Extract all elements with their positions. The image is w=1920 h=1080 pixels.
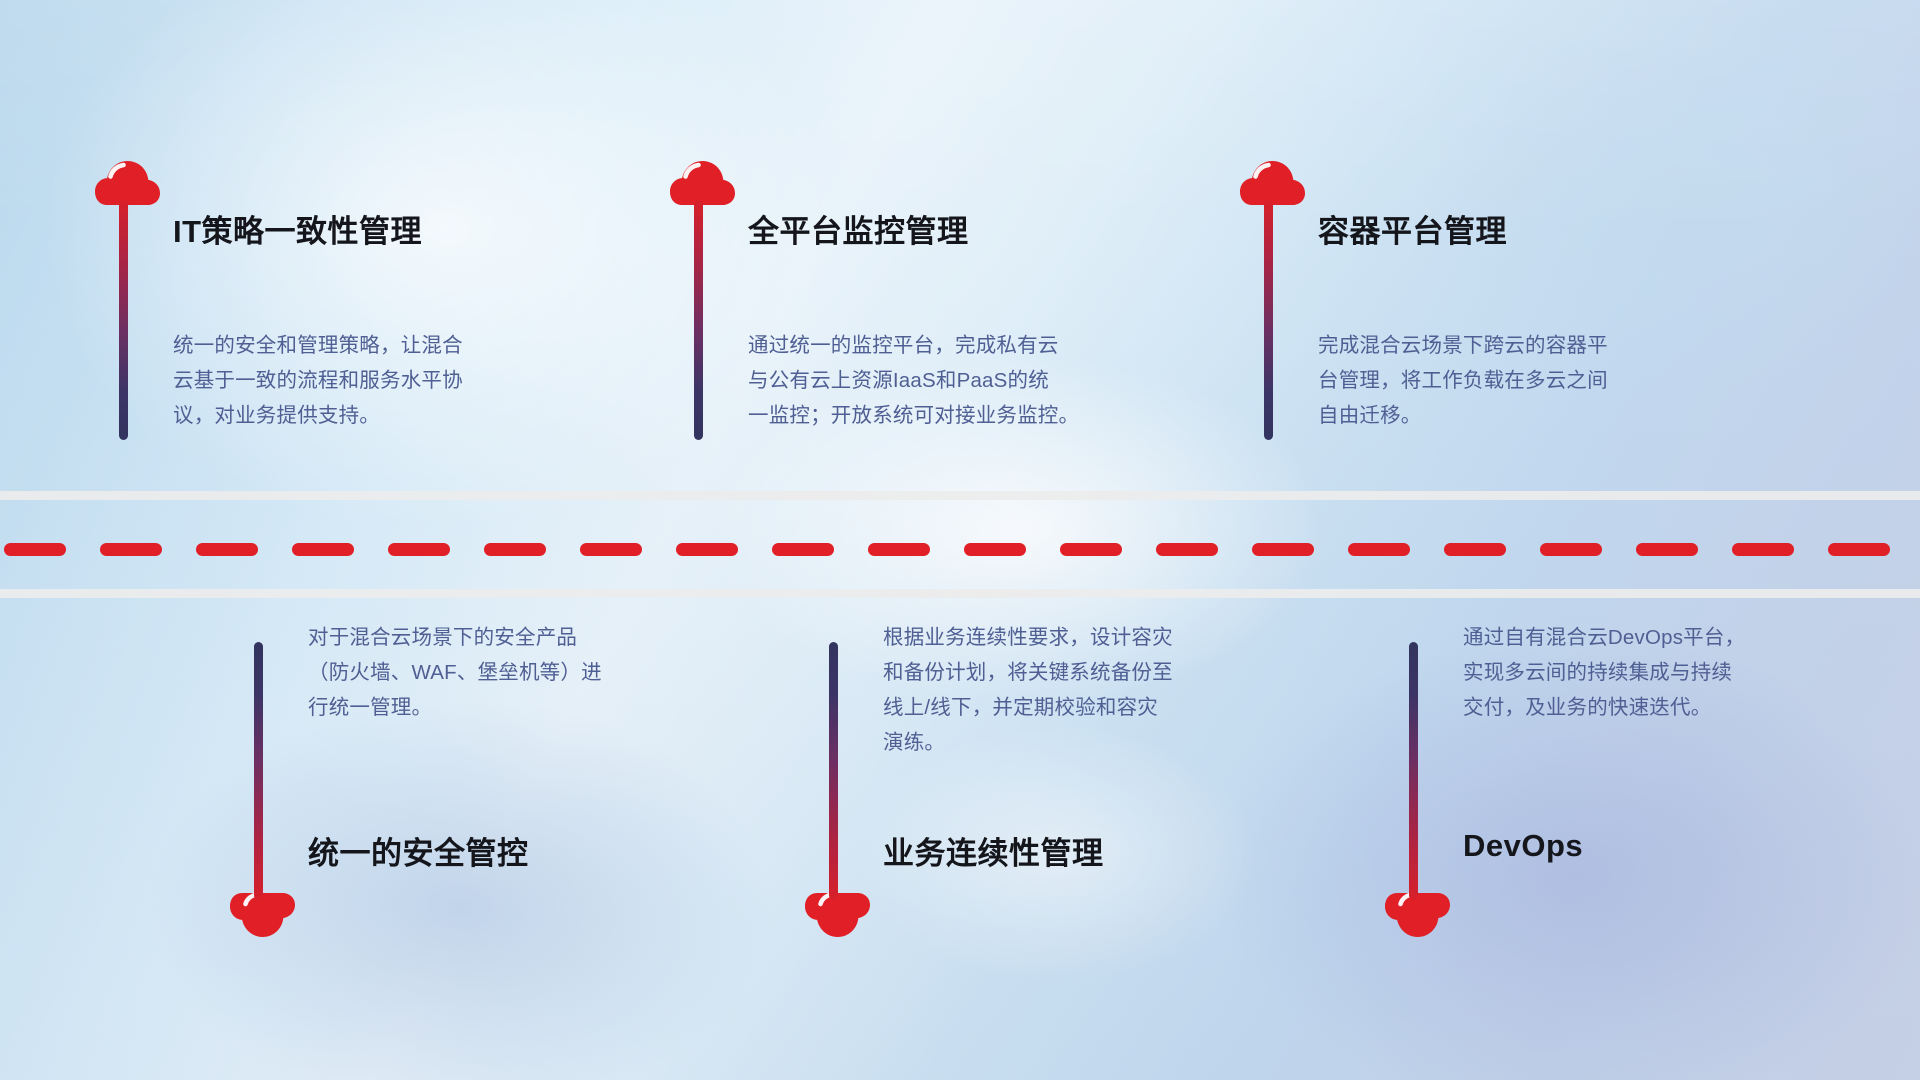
divider-dash	[388, 543, 450, 556]
divider-dash	[292, 543, 354, 556]
connector-stem	[254, 642, 263, 900]
divider-dash	[1636, 543, 1698, 556]
divider-dash	[772, 543, 834, 556]
divider-dash	[868, 543, 930, 556]
cloud-pin-icon	[95, 160, 161, 208]
connector-stem	[119, 200, 128, 440]
feature-title: IT策略一致性管理	[173, 206, 422, 251]
cloud-pin-icon	[1240, 160, 1306, 208]
connector-stem	[1409, 642, 1418, 900]
divider-dash	[1156, 543, 1218, 556]
divider-dash	[964, 543, 1026, 556]
divider-dash	[1540, 543, 1602, 556]
divider-dash	[1060, 543, 1122, 556]
divider-dash	[484, 543, 546, 556]
divider-rail-bottom	[0, 589, 1920, 598]
divider-dash	[196, 543, 258, 556]
cloud-pin-icon	[1385, 890, 1451, 938]
divider-dash	[1252, 543, 1314, 556]
feature-title: 容器平台管理	[1318, 206, 1507, 251]
connector-stem	[829, 642, 838, 900]
feature-description: 完成混合云场景下跨云的容器平 台管理，将工作负载在多云之间 自由迁移。	[1318, 328, 1678, 433]
connector-stem	[1264, 200, 1273, 440]
feature-description: 通过统一的监控平台，完成私有云 与公有云上资源IaaS和PaaS的统 一监控；开…	[748, 328, 1148, 433]
cloud-pin-icon	[805, 890, 871, 938]
feature-description: 根据业务连续性要求，设计容灾 和备份计划，将关键系统备份至 线上/线下，并定期校…	[883, 620, 1243, 760]
divider-dash	[1348, 543, 1410, 556]
feature-description: 对于混合云场景下的安全产品 （防火墙、WAF、堡垒机等）进 行统一管理。	[308, 620, 668, 725]
divider-dash	[1732, 543, 1794, 556]
feature-title: 业务连续性管理	[883, 828, 1104, 873]
connector-stem	[694, 200, 703, 440]
feature-description: 通过自有混合云DevOps平台， 实现多云间的持续集成与持续 交付，及业务的快速…	[1463, 620, 1823, 725]
cloud-pin-icon	[670, 160, 736, 208]
divider-dash	[4, 543, 66, 556]
divider-dash	[1828, 543, 1890, 556]
feature-title: 全平台监控管理	[748, 206, 969, 251]
feature-title: DevOps	[1463, 828, 1583, 864]
feature-description: 统一的安全和管理策略，让混合 云基于一致的流程和服务水平协 议，对业务提供支持。	[173, 328, 533, 433]
infographic-canvas: IT策略一致性管理 统一的安全和管理策略，让混合 云基于一致的流程和服务水平协 …	[0, 0, 1920, 1080]
cloud-pin-icon	[230, 890, 296, 938]
feature-title: 统一的安全管控	[308, 828, 529, 873]
divider-rail-top	[0, 491, 1920, 500]
divider-dash	[676, 543, 738, 556]
divider-dash	[1444, 543, 1506, 556]
divider-dash	[100, 543, 162, 556]
divider-dash	[580, 543, 642, 556]
dashed-divider	[0, 543, 1920, 556]
